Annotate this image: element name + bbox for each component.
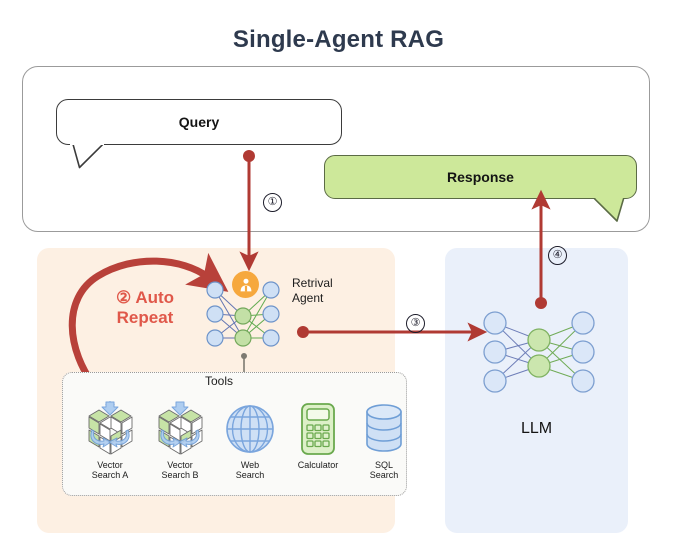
page-title: Single-Agent RAG — [0, 26, 677, 54]
vector-cube-icon — [148, 396, 212, 458]
retrieval-agent-label-line1: Retrival — [292, 276, 372, 291]
auto-repeat-line1: Auto — [135, 288, 174, 307]
tool-label: Web Search — [218, 460, 282, 481]
auto-repeat-label: ② Auto Repeat — [93, 288, 197, 328]
llm-label: LLM — [445, 420, 628, 438]
diagram-canvas: Single-Agent RAG Query Response — [0, 0, 677, 558]
query-bubble: Query — [56, 99, 342, 145]
globe-icon — [218, 396, 282, 458]
auto-repeat-line2: Repeat — [93, 308, 197, 328]
tool-vector-search-b[interactable]: Vector Search B — [148, 396, 212, 481]
query-bubble-tail — [70, 143, 104, 169]
user-panel — [22, 66, 650, 232]
tool-label: Vector Search A — [78, 460, 142, 481]
retrieval-agent-label-line2: Agent — [292, 291, 372, 306]
neural-network-icon — [478, 310, 600, 394]
tool-label: Vector Search B — [148, 460, 212, 481]
retrieval-agent-label: Retrival Agent — [292, 276, 372, 306]
tool-calculator[interactable]: Calculator — [286, 396, 350, 470]
tool-label: SQL Search — [352, 460, 416, 481]
response-label: Response — [447, 169, 514, 185]
tool-web-search[interactable]: Web Search — [218, 396, 282, 481]
tool-vector-search-a[interactable]: Vector Search A — [78, 396, 142, 481]
step-3-marker: ③ — [406, 314, 425, 333]
tool-label: Calculator — [286, 460, 350, 470]
response-bubble: Response — [324, 155, 637, 199]
step-1-marker: ① — [263, 193, 282, 212]
step-2-marker: ② — [116, 288, 131, 307]
vector-cube-icon — [78, 396, 142, 458]
database-icon — [352, 396, 416, 458]
tools-label: Tools — [205, 374, 233, 388]
tool-sql-search[interactable]: SQL Search — [352, 396, 416, 481]
robot-avatar-icon — [232, 271, 259, 298]
calculator-icon — [286, 396, 350, 458]
query-label: Query — [179, 114, 219, 130]
response-bubble-tail — [592, 196, 626, 222]
step-4-marker: ④ — [548, 246, 567, 265]
